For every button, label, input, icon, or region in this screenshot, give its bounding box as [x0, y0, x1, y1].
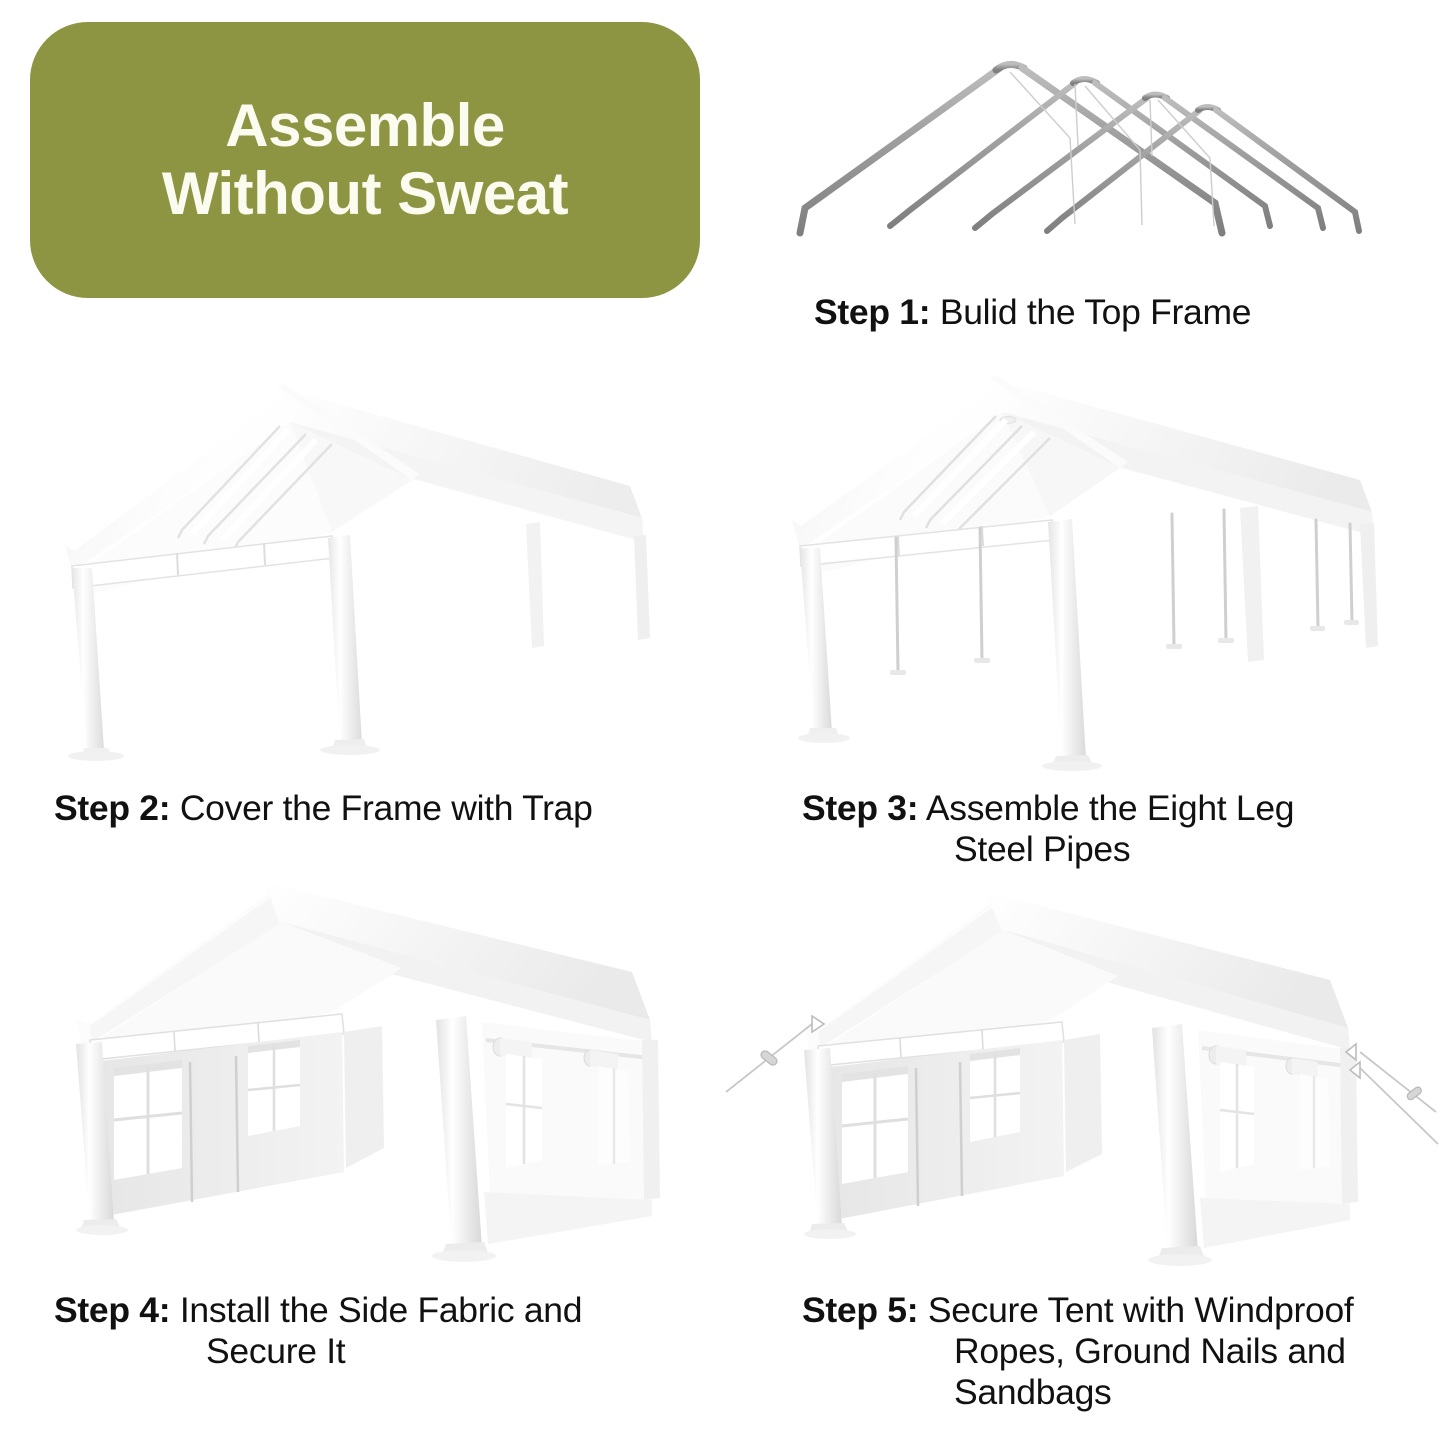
canopy-with-tarp-illustration — [32, 360, 732, 780]
step-4-text: Install the Side Fabric and — [180, 1290, 582, 1330]
step-5-cell: Step 5: Secure Tent with Windproof Ropes… — [720, 872, 1440, 1414]
step-1-text: Bulid the Top Frame — [940, 292, 1251, 332]
step-4-text-line2: Secure It — [54, 1331, 732, 1372]
step-2-text: Cover the Frame with Trap — [180, 788, 593, 828]
canopy-with-eight-legs-illustration — [720, 360, 1420, 780]
side-wall-window-1 — [842, 1066, 908, 1184]
step-1-cell: Step 1: Bulid the Top Frame — [770, 28, 1430, 333]
right-wall-window-1 — [506, 1054, 542, 1168]
step-5-caption: Step 5: Secure Tent with Windproof Ropes… — [720, 1290, 1440, 1414]
step-4-cell: Step 4: Install the Side Fabric and Secu… — [32, 872, 732, 1372]
step-1-caption: Step 1: Bulid the Top Frame — [770, 292, 1430, 333]
step-2-label: Step 2: — [54, 788, 170, 828]
roof-frame-pipes-illustration — [770, 28, 1430, 278]
step-2-caption: Step 2: Cover the Frame with Trap — [32, 788, 732, 829]
side-wall-window-1 — [114, 1060, 182, 1180]
tent-with-side-walls-illustration — [32, 872, 732, 1282]
promo-banner-line-1: Assemble — [225, 92, 504, 160]
step-3-text: Assemble the Eight Leg — [926, 788, 1294, 828]
step-4-caption: Step 4: Install the Side Fabric and Secu… — [32, 1290, 732, 1372]
step-2-cell: Step 2: Cover the Frame with Trap — [32, 360, 732, 829]
tent-with-guy-ropes-illustration — [720, 872, 1440, 1282]
promo-banner-line-2: Without Sweat — [162, 160, 568, 228]
side-wall-window-2 — [970, 1048, 1020, 1142]
step-3-text-line2: Steel Pipes — [802, 829, 1430, 870]
step-1-label: Step 1: — [814, 292, 930, 332]
step-3-caption: Step 3: Assemble the Eight Leg Steel Pip… — [720, 788, 1430, 870]
right-wall-window-1 — [1220, 1062, 1254, 1172]
step-4-label: Step 4: — [54, 1290, 170, 1330]
side-wall-window-2 — [248, 1040, 300, 1136]
step-5-label: Step 5: — [802, 1290, 918, 1330]
right-wall-window-2 — [598, 1066, 630, 1166]
step-5-text: Secure Tent with Windproof — [928, 1290, 1354, 1330]
right-wall-window-2 — [1300, 1074, 1330, 1170]
step-5-text-line2: Ropes, Ground Nails and — [802, 1331, 1440, 1372]
step-3-label: Step 3: — [802, 788, 918, 828]
promo-banner: Assemble Without Sweat — [30, 22, 700, 298]
step-5-text-line3: Sandbags — [802, 1372, 1440, 1413]
step-3-cell: Step 3: Assemble the Eight Leg Steel Pip… — [720, 360, 1430, 870]
